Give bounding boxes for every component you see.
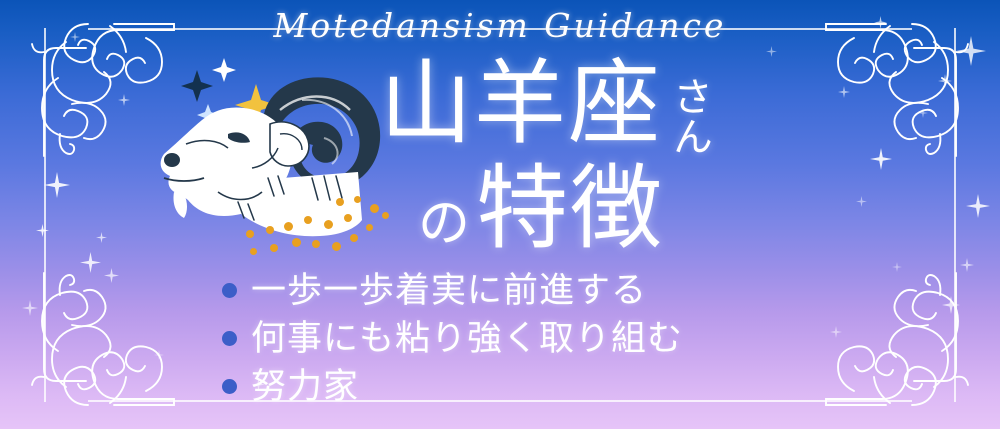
- bullet-icon: [222, 331, 237, 346]
- corner-flourish-bottom-right: [821, 271, 986, 421]
- list-item: 何事にも粘り強く取り組む: [222, 314, 842, 362]
- sparkle-icon: [856, 196, 867, 207]
- trait-text: 何事にも粘り強く取り組む: [251, 321, 683, 356]
- sparkle-icon: [892, 262, 902, 272]
- bullet-icon: [222, 379, 237, 394]
- sparkle-icon: [44, 172, 70, 198]
- sparkle-icon: [918, 108, 928, 118]
- zodiac-title: 山羊座 さん の 特徴: [380, 58, 800, 258]
- sparkle-icon: [966, 194, 990, 218]
- frame-line-left: [44, 28, 46, 402]
- trait-text: 努力家: [251, 369, 359, 404]
- script-title: Motedansism Guidance: [0, 6, 1000, 45]
- list-item: 努力家: [222, 362, 842, 410]
- sparkle-icon: [96, 232, 107, 243]
- zodiac-banner: Motedansism Guidance: [0, 0, 1000, 429]
- sparkle-icon: [766, 46, 777, 57]
- sparkle-icon: [960, 258, 974, 272]
- zodiac-particle: の: [418, 199, 470, 251]
- sparkle-icon: [838, 86, 850, 98]
- zodiac-name: 山羊座: [380, 58, 662, 152]
- capricorn-goat-illustration: [152, 52, 402, 262]
- sparkle-icon: [104, 268, 119, 283]
- zodiac-honorific: さん: [670, 76, 708, 156]
- zodiac-title-line2: の 特徴: [418, 163, 664, 255]
- trait-list: 一歩一歩着実に前進する 何事にも粘り強く取り組む 努力家: [222, 266, 842, 410]
- bullet-icon: [222, 283, 237, 298]
- sparkle-icon: [938, 74, 952, 88]
- zodiac-subject: 特徴: [476, 163, 664, 255]
- list-item: 一歩一歩着実に前進する: [222, 266, 842, 314]
- sparkle-icon: [80, 252, 101, 273]
- sparkle-icon: [942, 296, 960, 314]
- sparkle-icon: [118, 94, 130, 106]
- sparkle-icon: [22, 300, 38, 316]
- sparkle-icon: [36, 224, 49, 237]
- zodiac-title-line1: 山羊座 さん: [380, 58, 708, 156]
- sparkle-icon: [870, 148, 892, 170]
- frame-line-right: [954, 28, 956, 402]
- sparkle-icon: [154, 350, 164, 360]
- trait-text: 一歩一歩着実に前進する: [251, 273, 647, 308]
- corner-flourish-bottom-left: [14, 271, 179, 421]
